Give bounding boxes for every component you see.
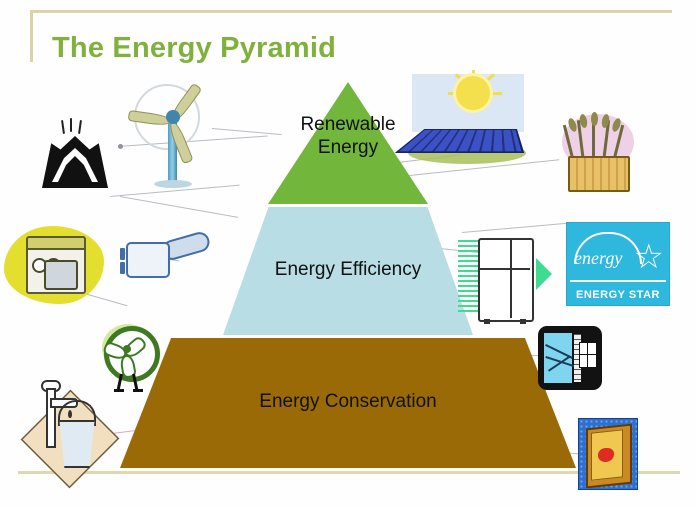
solar-panel-icon xyxy=(404,70,534,170)
biomass-head-3 xyxy=(591,112,598,126)
pyramid-tier-conservation-label: Energy Conservation xyxy=(120,390,576,413)
star-icon: ☆ xyxy=(634,242,664,272)
refrigerator-icon xyxy=(466,232,542,330)
biomass-crops-icon xyxy=(556,112,648,196)
energy-star-wordmark: ENERGY STAR xyxy=(566,289,670,301)
biomass-hay-bale xyxy=(568,156,630,192)
appliance-control-panel xyxy=(26,236,86,250)
window-insulation-icon xyxy=(538,326,602,390)
volcano-smoke-1 xyxy=(61,120,65,134)
faucet-bucket-icon xyxy=(22,372,118,492)
volcano-smoke-3 xyxy=(78,120,82,134)
fridge-green-rays xyxy=(458,240,480,312)
washing-machine-icon xyxy=(4,222,108,310)
fan-foot-right xyxy=(133,389,143,392)
window-grid xyxy=(579,342,597,368)
open-door-icon xyxy=(578,418,638,490)
solar-panel-surface xyxy=(395,129,525,153)
energy-star-logo-icon: energy ☆ ENERGY STAR xyxy=(566,222,670,306)
pyramid-tier-efficiency-label: Energy Efficiency xyxy=(223,258,473,281)
electric-plug-icon xyxy=(118,228,216,294)
fridge-green-arrow xyxy=(536,258,552,290)
plug-pin-1 xyxy=(120,248,125,260)
wind-turbine-hub xyxy=(166,110,180,124)
fridge-vertical-divider xyxy=(510,238,512,318)
fridge-body xyxy=(478,238,534,322)
fridge-foot-left xyxy=(484,319,490,324)
pyramid-tier-renewable-label-line1: Renewable xyxy=(273,113,423,136)
wind-turbine-base xyxy=(154,180,192,188)
appliance-door xyxy=(44,260,78,290)
fridge-divider xyxy=(478,268,530,270)
volcano-geothermal-icon xyxy=(36,118,114,190)
faucet-pipe xyxy=(46,388,56,448)
energy-star-script: energy xyxy=(574,248,622,269)
plug-pin-2 xyxy=(120,262,125,274)
fridge-foot-right xyxy=(520,319,526,324)
energy-pyramid-slide: The Energy Pyramid Renewable Energy Ener… xyxy=(0,0,696,507)
solar-sun xyxy=(456,76,490,110)
volcano-smoke-2 xyxy=(70,118,72,132)
plug-body xyxy=(126,242,170,278)
fan-hub xyxy=(123,345,131,353)
wind-turbine-icon xyxy=(128,82,212,192)
